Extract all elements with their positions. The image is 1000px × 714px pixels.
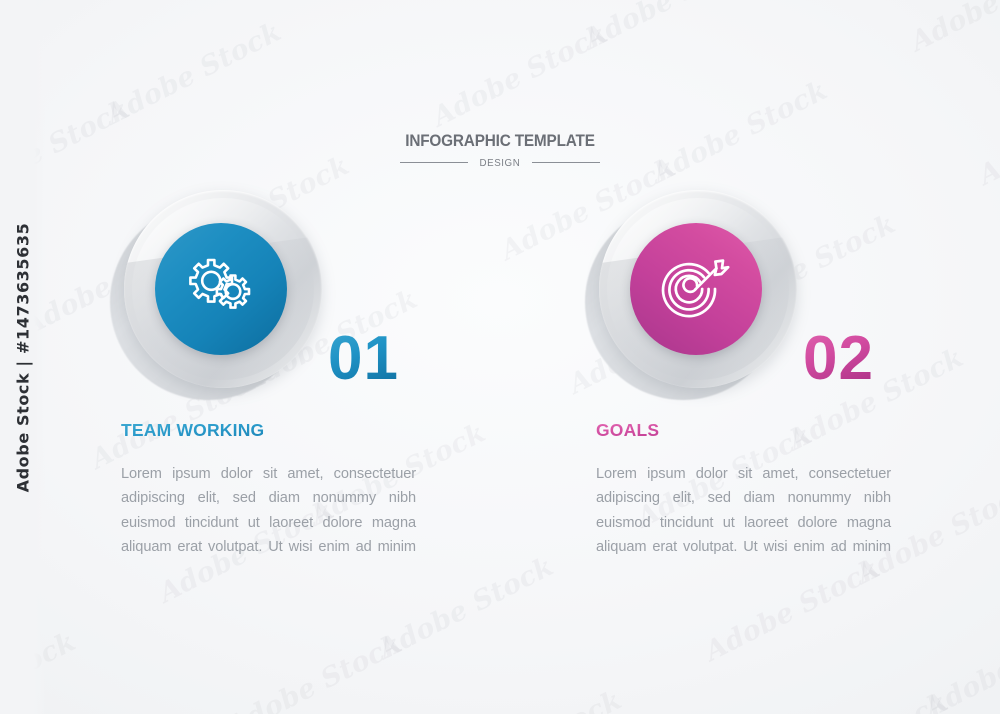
watermark-tile: Adobe Stock [700,563,920,714]
subtitle-row: DESIGN [0,158,1000,169]
header: INFOGRAPHIC TEMPLATE DESIGN [0,133,1000,168]
divider-line-right [532,162,600,163]
watermark-tile: Adobe Stock [374,534,647,714]
badge-color-disc-pink[interactable] [630,223,762,355]
divider-line-left [400,162,468,163]
watermark-tile: Adobe Stock [511,0,784,28]
target-dart-icon [659,252,733,326]
gears-icon [185,253,257,325]
watermark-tile: Adobe Stock [360,0,580,105]
watermark-tile: Adobe Stock [974,87,1000,298]
watermark-tile: Adobe Stock [33,0,306,103]
item-number-02: 02 [803,328,874,390]
page-title: INFOGRAPHIC TEMPLATE [35,133,965,150]
side-watermark-strip: Adobe Stock | #1473635635 [0,0,46,714]
watermark-tile: Adobe Stock [222,638,442,714]
circle-badge-02[interactable] [585,190,800,405]
badge-color-disc-blue[interactable] [155,223,287,355]
item-heading-02: GOALS [596,422,659,440]
item-body-01: Lorem ipsum dolor sit amet, consectetuer… [121,462,416,559]
watermark-tile: Adobe Stock [838,0,1000,30]
item-number-01: 01 [328,328,399,390]
infographic-item-02[interactable]: 02 GOALS Lorem ipsum dolor sit amet, con… [585,190,905,405]
page-subtitle: DESIGN [480,158,521,169]
watermark-tile: Adobe Stock [442,667,715,714]
circle-badge-01[interactable] [110,190,325,405]
watermark-tile: Adobe Stock [920,592,1000,714]
item-heading-01: TEAM WORKING [121,422,264,440]
infographic-item-01[interactable]: 01 TEAM WORKING Lorem ipsum dolor sit am… [110,190,430,405]
watermark-tile: Adobe Stock [768,696,988,714]
side-watermark-label: Adobe Stock | #1473635635 [14,222,33,492]
infographic-canvas: Adobe Stock Adobe Stock Adobe Stock Adob… [0,0,1000,714]
item-body-02: Lorem ipsum dolor sit amet, consectetuer… [596,462,891,559]
